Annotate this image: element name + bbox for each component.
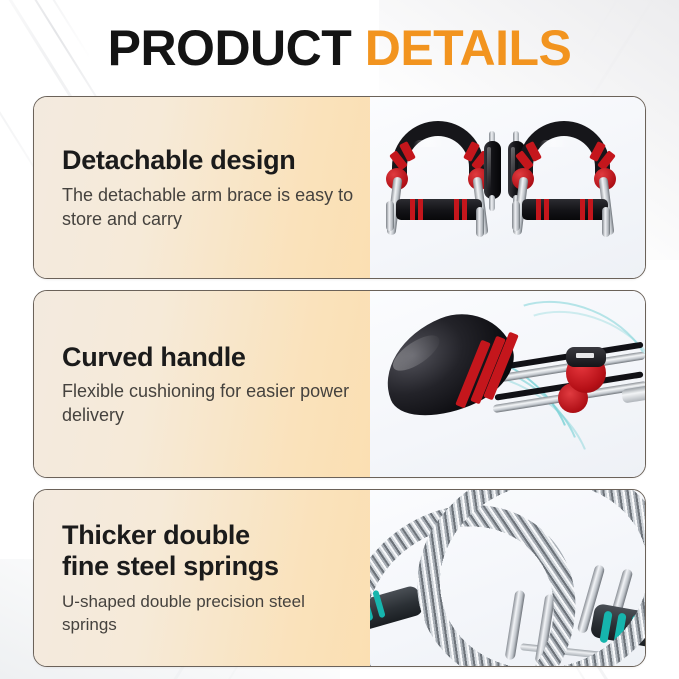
card-description: U-shaped double precision steel springs [62,590,354,636]
feature-card-detachable-design: Detachable design The detachable arm bra… [33,96,646,279]
feature-card-curved-handle: Curved handle Flexible cushioning for ea… [33,290,646,478]
feature-card-list: Detachable design The detachable arm bra… [33,96,646,667]
product-image-curved-handle [370,291,645,477]
card-heading-line-1: Thicker double [62,520,250,550]
page-title-accent: DETAILS [365,20,572,76]
card-text-panel: Detachable design The detachable arm bra… [34,97,370,278]
page-title: PRODUCT DETAILS [0,22,679,74]
card-heading: Curved handle [62,342,354,373]
card-heading: Detachable design [62,145,354,176]
detached-grip-tube-1-icon [482,131,502,211]
card-description: Flexible cushioning for easier power del… [62,379,354,427]
card-text-panel: Curved handle Flexible cushioning for ea… [34,291,370,477]
card-heading-line-2: fine steel springs [62,551,279,581]
product-image-detachable-bars [370,97,645,278]
hub-label-icon [566,347,606,367]
product-image-steel-springs [370,490,645,666]
pushup-bar-left-icon [384,121,492,239]
feature-card-steel-springs: Thicker double fine steel springs U-shap… [33,489,646,667]
card-description: The detachable arm brace is easy to stor… [62,183,354,231]
card-heading: Thicker double fine steel springs [62,520,354,582]
product-details-infographic: PRODUCT DETAILS Detachable design The de… [0,0,679,679]
pushup-bar-right-icon [510,121,618,239]
page-title-primary: PRODUCT [108,20,352,76]
card-text-panel: Thicker double fine steel springs U-shap… [34,490,370,666]
